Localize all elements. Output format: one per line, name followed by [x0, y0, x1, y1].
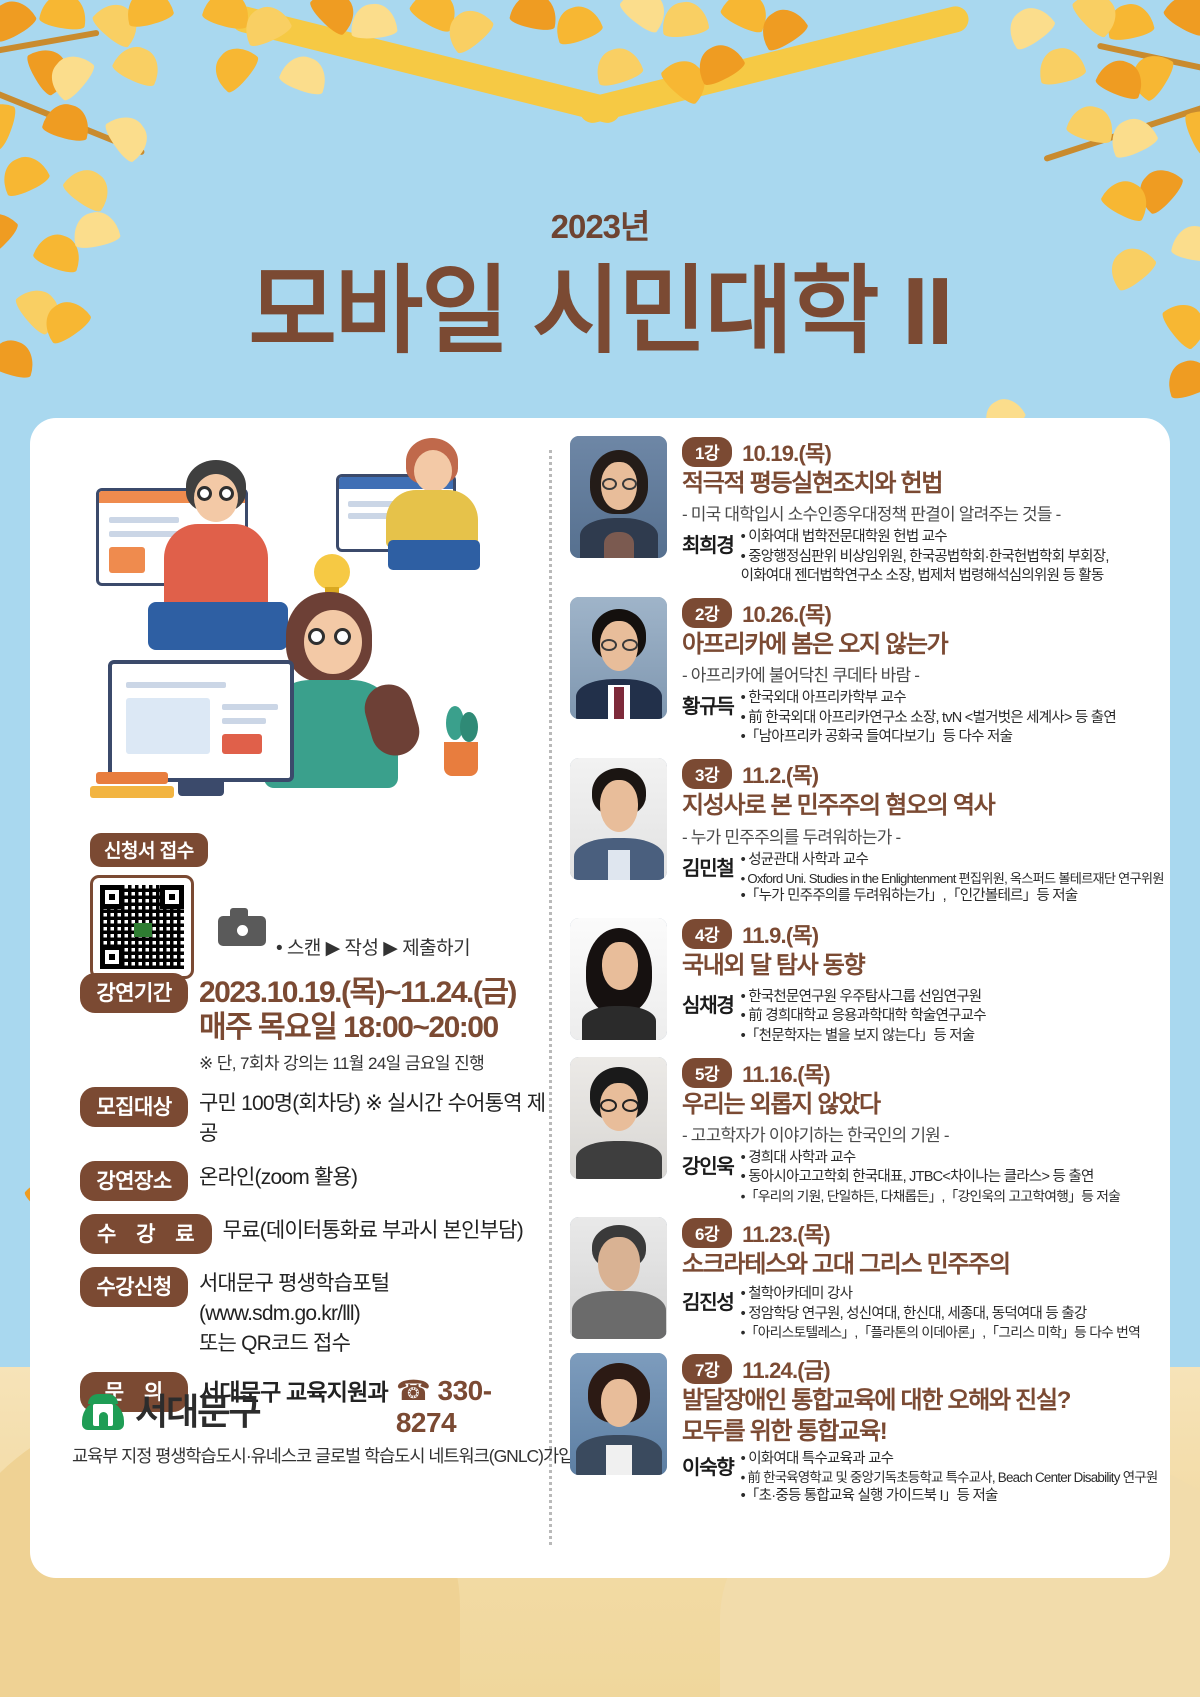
- portrait-kim-jinsung: [570, 1217, 667, 1339]
- lecture-title: 적극적 평등실현조치와 헌법: [682, 470, 1160, 498]
- venue-value: 온라인(zoom 활용): [199, 1163, 550, 1193]
- qr-scan-steps: • 스캔 ▶ 작성 ▶ 제출하기: [276, 933, 470, 960]
- info-tag-fee: 수 강 료: [80, 1214, 212, 1254]
- registration-alt: 또는 QR코드 접수: [199, 1329, 550, 1359]
- lecture-subtitle: - 아프리카에 불어닥친 쿠데타 바람 -: [682, 661, 1160, 686]
- roof-chevron-decoration: [220, 100, 980, 210]
- poster-root: 2023년 모바일 시민대학 II: [0, 0, 1200, 1697]
- lecturer-name: 심채경: [682, 988, 734, 1046]
- lecturer-bio: •「남아프리카 공화국 들여다보기」등 다수 저술: [741, 728, 1160, 747]
- lecture-number-badge: 4강: [682, 919, 732, 949]
- lecturer-bio: • 前 한국외대 아프리카연구소 소장, tvN <벌거벗은 세계사> 등 출연: [741, 709, 1160, 728]
- lecturer-bio: •「우리의 기원, 단일하든, 다채롭든」,「강인욱의 고고학여행」등 저술: [741, 1188, 1160, 1206]
- lecture-number-badge: 6강: [682, 1218, 732, 1248]
- lecture-subtitle: - 누가 민주주의를 두려워하는가 -: [682, 823, 1160, 848]
- lecturer-bio: • 정암학당 연구원, 성신여대, 한신대, 세종대, 동덕여대 등 출강: [741, 1305, 1160, 1324]
- lecture-date: 10.26.(목): [742, 597, 831, 629]
- lecture-title: 발달장애인 통합교육에 대한 오해와 진실?: [682, 1387, 1160, 1415]
- portrait-lee-sukhyang: [570, 1353, 667, 1475]
- camera-icon: [218, 908, 266, 946]
- contact-phone[interactable]: ☎ 330-8274: [396, 1374, 550, 1439]
- footer-logo: 서대문구: [82, 1383, 259, 1435]
- lecturer-bio: • 경희대 사학과 교수: [741, 1149, 1160, 1168]
- lecturer-bio-continued: 이화여대 젠더법학연구소 소장, 법제처 법령해석심의위원 등 활동: [741, 567, 1160, 586]
- lecture-item[interactable]: 7강 11.24.(금) 발달장애인 통합교육에 대한 오해와 진실? 모두를 …: [570, 1353, 1160, 1506]
- lecture-item[interactable]: 1강 10.19.(목) 적극적 평등실현조치와 헌법 - 미국 대학입시 소수…: [570, 436, 1160, 586]
- lecturer-name: 김진성: [682, 1285, 734, 1342]
- info-tag-venue: 강연장소: [80, 1161, 188, 1201]
- lecture-subtitle: - 고고학자가 이야기하는 한국인의 기원 -: [682, 1121, 1160, 1146]
- lecturer-bio: • 성균관대 사학과 교수: [741, 851, 1160, 870]
- lecturer-bio: •「아리스토텔레스」,「플라톤의 이데아론」,「그리스 미학」등 다수 번역: [741, 1324, 1160, 1342]
- info-row-fee: 수 강 료 무료(데이터통화료 부과시 본인부담): [80, 1214, 550, 1254]
- lecturer-bio: • 철학아카데미 강사: [741, 1285, 1160, 1304]
- period-line-2: 매주 목요일 18:00~20:00: [199, 1010, 550, 1045]
- lecture-title: 아프리카에 봄은 오지 않는가: [682, 631, 1160, 659]
- info-list: 강연기간 2023.10.19.(목)~11.24.(금) 매주 목요일 18:…: [80, 973, 550, 1452]
- lecturer-bio: • 이화여대 법학전문대학원 헌법 교수: [741, 528, 1160, 547]
- portrait-kim-mincheol: [570, 758, 667, 880]
- period-note: ※ 단, 7회차 강의는 11월 24일 금요일 진행: [199, 1049, 550, 1074]
- qr-code-icon[interactable]: [90, 875, 194, 979]
- lecture-number-badge: 5강: [682, 1058, 732, 1088]
- portrait-choi-heekyung: [570, 436, 667, 558]
- lecture-date: 11.2.(목): [742, 758, 818, 790]
- info-tag-period: 강연기간: [80, 973, 188, 1013]
- info-tag-registration: 수강신청: [80, 1267, 188, 1307]
- lecturer-bio: • 이화여대 특수교육과 교수: [741, 1450, 1160, 1469]
- footer-note: 교육부 지정 평생학습도시·유네스코 글로벌 학습도시 네트워크(GNLC)가입…: [72, 1443, 603, 1468]
- lecturer-bio: •「초·중등 통합교육 실행 가이드북 I」등 저술: [741, 1487, 1160, 1506]
- lecturer-name: 최희경: [682, 528, 734, 586]
- lecturer-bio: • 前 경희대학교 응용과학대학 학술연구교수: [741, 1007, 1160, 1026]
- lecture-title: 국내외 달 탐사 동향: [682, 952, 1160, 980]
- lecture-number-badge: 3강: [682, 759, 732, 789]
- online-learning-illustration: [68, 432, 518, 822]
- lecturer-name: 이숙향: [682, 1450, 734, 1506]
- lecture-title: 소크라테스와 고대 그리스 민주주의: [682, 1251, 1160, 1279]
- lecturer-bio: • 한국외대 아프리카학부 교수: [741, 689, 1160, 708]
- lecture-date: 11.23.(목): [742, 1217, 830, 1249]
- info-row-registration: 수강신청 서대문구 평생학습포털(www.sdm.go.kr/lll) 또는 Q…: [80, 1267, 550, 1358]
- lecture-item[interactable]: 5강 11.16.(목) 우리는 외롭지 않았다 - 고고학자가 이야기하는 한…: [570, 1057, 1160, 1206]
- lecture-number-badge: 2강: [682, 598, 732, 628]
- lecturer-bio: •「천문학자는 별을 보지 않는다」등 저술: [741, 1027, 1160, 1046]
- content-card: 신청서 접수: [30, 418, 1170, 1578]
- lecture-date: 11.24.(금): [742, 1353, 830, 1385]
- lecturer-bio: •「누가 민주주의를 두려워하는가」,「인간볼테르」등 저술: [741, 887, 1160, 906]
- application-qr-section: 신청서 접수: [90, 833, 510, 979]
- lecture-list: 1강 10.19.(목) 적극적 평등실현조치와 헌법 - 미국 대학입시 소수…: [570, 436, 1160, 1517]
- lecture-subtitle: - 미국 대학입시 소수인종우대정책 판결이 알려주는 것들 -: [682, 500, 1160, 525]
- page-title: 모바일 시민대학 II: [0, 262, 1200, 363]
- lecture-title: 우리는 외롭지 않았다: [682, 1091, 1160, 1119]
- period-line-1: 2023.10.19.(목)~11.24.(금): [199, 975, 550, 1010]
- portrait-hwang-gyudeuk: [570, 597, 667, 719]
- lecturer-bio: • Oxford Uni. Studies in the Enlightenme…: [741, 870, 1160, 888]
- info-row-period: 강연기간 2023.10.19.(목)~11.24.(금) 매주 목요일 18:…: [80, 973, 550, 1074]
- lecture-item[interactable]: 3강 11.2.(목) 지성사로 본 민주주의 혐오의 역사 - 누가 민주주의…: [570, 758, 1160, 906]
- qr-section-label: 신청서 접수: [90, 833, 208, 867]
- portrait-kang-inwook: [570, 1057, 667, 1179]
- info-row-venue: 강연장소 온라인(zoom 활용): [80, 1161, 550, 1201]
- footer-logo-text: 서대문구: [135, 1383, 259, 1435]
- lecturer-name: 김민철: [682, 851, 734, 907]
- lecturer-bio: • 동아시아고고학회 한국대표, JTBC<차이나는 클라스> 등 출연: [741, 1168, 1160, 1187]
- lecturer-name: 황규득: [682, 689, 734, 747]
- lecture-item[interactable]: 6강 11.23.(목) 소크라테스와 고대 그리스 민주주의 김진성 • 철학…: [570, 1217, 1160, 1342]
- lecture-date: 10.19.(목): [742, 436, 831, 468]
- lecture-item[interactable]: 2강 10.26.(목) 아프리카에 봄은 오지 않는가 - 아프리카에 불어닥…: [570, 597, 1160, 747]
- lecture-date: 11.16.(목): [742, 1057, 830, 1089]
- fee-value: 무료(데이터통화료 부과시 본인부담): [223, 1216, 550, 1246]
- info-tag-target: 모집대상: [80, 1087, 188, 1127]
- lecturer-bio: • 前 한국육영학교 및 중앙기독초등학교 특수교사, Beach Center…: [741, 1469, 1160, 1487]
- lecturer-name: 강인욱: [682, 1149, 734, 1206]
- lecturer-bio: • 한국천문연구원 우주탐사그룹 선임연구원: [741, 988, 1160, 1007]
- lecture-title-line2: 모두를 위한 통합교육!: [682, 1418, 1160, 1446]
- lecture-title: 지성사로 본 민주주의 혐오의 역사: [682, 792, 1160, 820]
- lecture-date: 11.9.(목): [742, 918, 818, 950]
- target-value: 구민 100명(회차당) ※ 실시간 수어통역 제공: [199, 1089, 550, 1149]
- seodaemun-gu-logo-icon: [82, 1388, 124, 1430]
- lecture-item[interactable]: 4강 11.9.(목) 국내외 달 탐사 동향 심채경 • 한국천문연구원 우주…: [570, 918, 1160, 1046]
- left-column: 신청서 접수: [30, 418, 549, 1578]
- registration-url[interactable]: 서대문구 평생학습포털(www.sdm.go.kr/lll): [199, 1269, 550, 1329]
- lecture-number-badge: 1강: [682, 437, 732, 467]
- portrait-sim-chaekyung: [570, 918, 667, 1040]
- info-row-target: 모집대상 구민 100명(회차당) ※ 실시간 수어통역 제공: [80, 1087, 550, 1149]
- page-subtitle-year: 2023년: [0, 200, 1200, 248]
- lecturer-bio: • 중앙행정심판위 비상임위원, 한국공법학회·한국헌법학회 부회장,: [741, 548, 1160, 567]
- lecture-number-badge: 7강: [682, 1354, 732, 1384]
